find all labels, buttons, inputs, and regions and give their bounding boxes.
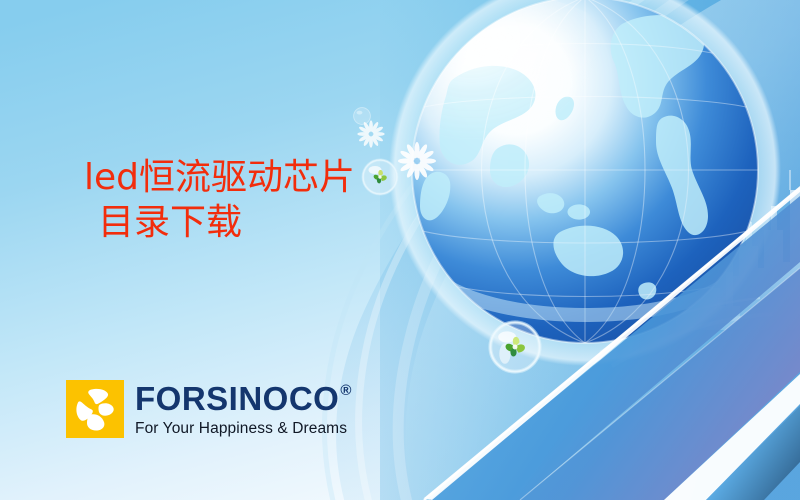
city-skyline-silhouette (600, 170, 800, 366)
registered-trademark-icon: ® (340, 383, 352, 398)
bubble-pinwheel (490, 322, 539, 371)
snowflake-burst (357, 120, 384, 147)
logo-wordmark: FORSINOCO ® (135, 382, 352, 415)
logo-text-block: FORSINOCO ® For Your Happiness & Dreams (135, 382, 352, 437)
logo-tagline: For Your Happiness & Dreams (135, 421, 352, 437)
forsinoco-flower-mark-icon (66, 380, 124, 438)
bubble-pinwheel (354, 108, 371, 125)
headline-line-2: 目录下载 (98, 205, 504, 242)
headline-line-1: led恒流驱动芯片 (84, 160, 504, 197)
headline-text-block: led恒流驱动芯片 目录下载 (84, 160, 504, 241)
promo-banner: led恒流驱动芯片 目录下载 FORSINOCO (0, 0, 800, 500)
logo-wordmark-text: FORSINOCO (135, 382, 339, 415)
company-logo: FORSINOCO ® For Your Happiness & Dreams (66, 380, 352, 438)
